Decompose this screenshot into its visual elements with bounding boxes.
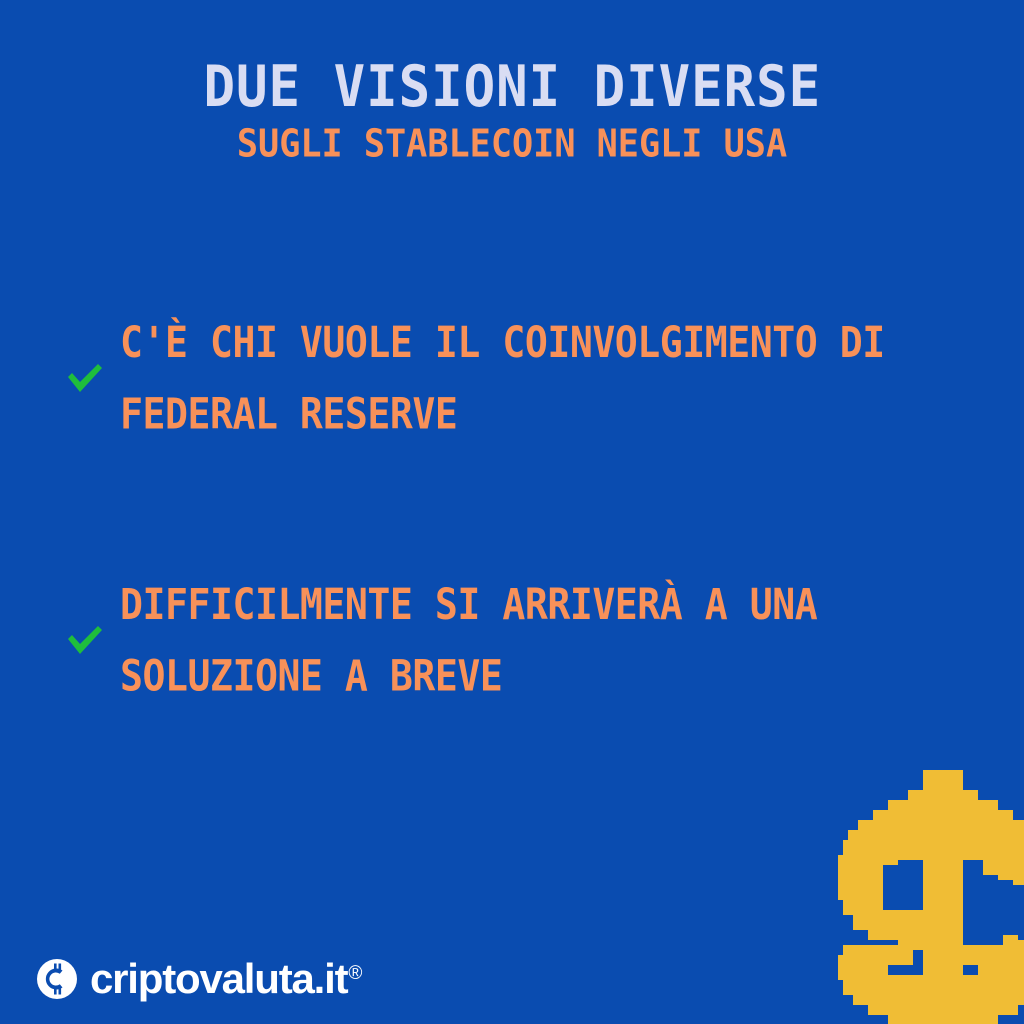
bullet-text-2: DIFFICILMENTE SI ARRIVERÀ A UNA SOLUZION… [120, 569, 903, 712]
bullet-line: DIFFICILMENTE SI ARRIVERÀ A UNA [120, 569, 903, 640]
bullet-line: SOLUZIONE A BREVE [120, 640, 903, 711]
registered-trademark-symbol: ® [348, 964, 362, 983]
logo-text: criptovaluta.it [90, 958, 347, 1000]
poster-canvas: DUE VISIONI DIVERSE SUGLI STABLECOIN NEG… [0, 0, 1024, 1024]
bullet-item-1: C'È CHI VUOLE IL COINVOLGIMENTO DI FEDER… [62, 310, 962, 446]
heading-block: DUE VISIONI DIVERSE SUGLI STABLECOIN NEG… [0, 58, 1024, 164]
bullet-line: FEDERAL RESERVE [120, 378, 903, 449]
bullet-text-1: C'È CHI VUOLE IL COINVOLGIMENTO DI FEDER… [120, 307, 903, 450]
page-subtitle: SUGLI STABLECOIN NEGLI USA [26, 123, 999, 165]
check-icon [62, 617, 108, 663]
dollar-sign-icon [828, 770, 1024, 1024]
check-icon [62, 355, 108, 401]
bullet-line: C'È CHI VUOLE IL COINVOLGIMENTO DI [120, 307, 903, 378]
bullet-item-2: DIFFICILMENTE SI ARRIVERÀ A UNA SOLUZION… [62, 572, 962, 708]
brand-logo[interactable]: criptovaluta.it ® [36, 958, 362, 1000]
page-title: DUE VISIONI DIVERSE [203, 56, 821, 117]
criptovaluta-coin-icon [36, 958, 78, 1000]
